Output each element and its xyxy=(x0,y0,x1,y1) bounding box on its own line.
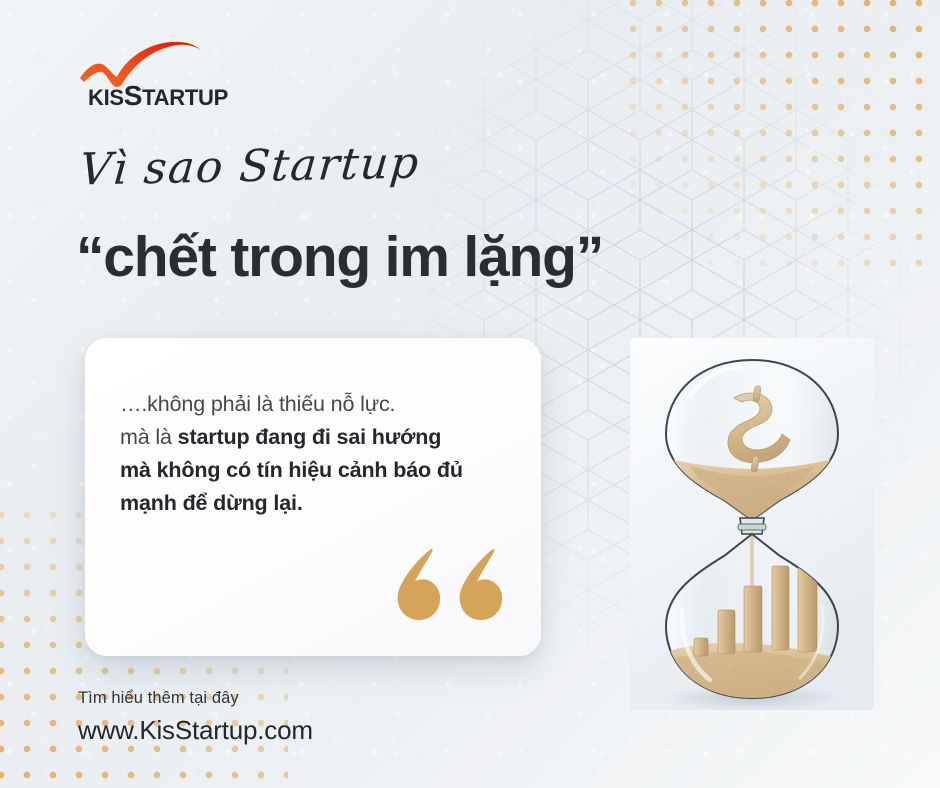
quote-line-2-bold: startup đang đi sai hướng xyxy=(178,425,442,449)
quote-text-block: ….không phải là thiếu nỗ lực. mà là star… xyxy=(120,388,517,520)
poster-canvas: KISSTARTUP Vì sao Startup “chết trong im… xyxy=(0,0,940,788)
quote-line-1: ….không phải là thiếu nỗ lực. xyxy=(120,388,517,421)
logo-wordmark: KISSTARTUP xyxy=(88,80,228,110)
quote-line-2-light: mà là xyxy=(120,425,178,449)
footer-website-link[interactable]: www.KisStartup.com xyxy=(78,712,313,748)
quote-card: ….không phải là thiếu nỗ lực. mà là star… xyxy=(85,338,541,656)
headline-script-line: Vì sao Startup xyxy=(78,137,422,195)
quote-line-3: mà không có tín hiệu cảnh báo đủ xyxy=(120,454,517,487)
gold-dot-pattern-top-right xyxy=(620,0,940,280)
footer-block: Tìm hiểu thêm tại đây www.KisStartup.com xyxy=(78,686,313,748)
page-title: “chết trong im lặng” xyxy=(76,224,603,290)
quote-line-2: mà là startup đang đi sai hướng xyxy=(120,421,517,454)
bar-3 xyxy=(744,586,762,652)
hourglass-photo xyxy=(630,338,874,710)
closing-quotation-mark-icon xyxy=(395,548,507,630)
bar-1 xyxy=(694,638,708,656)
kisstartup-logo[interactable]: KISSTARTUP xyxy=(74,30,314,110)
quote-line-4: mạnh để dừng lại. xyxy=(120,487,517,520)
footer-cta-label: Tìm hiểu thêm tại đây xyxy=(78,686,313,710)
bar-4 xyxy=(772,566,789,650)
bar-2 xyxy=(718,610,735,654)
